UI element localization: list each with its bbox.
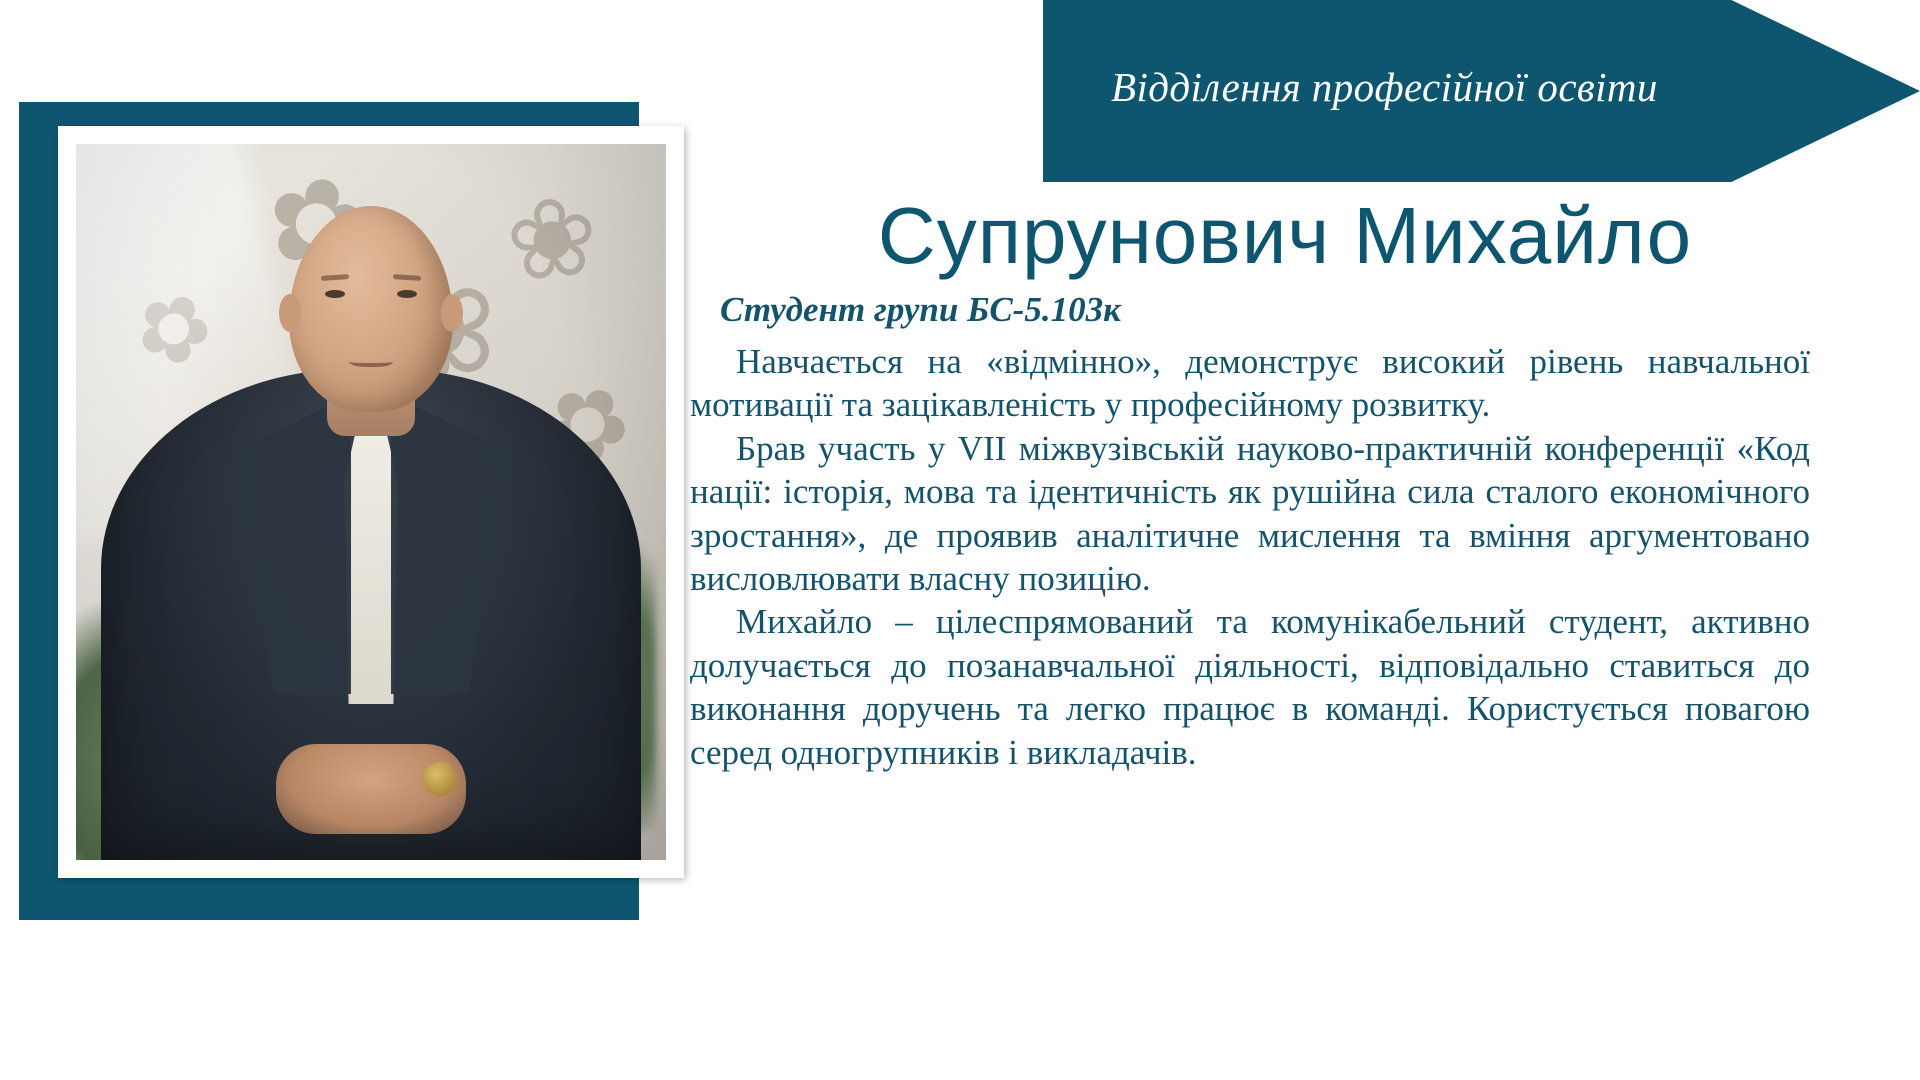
biography-paragraph: Брав участь у VII міжвузівській науково-… [690,427,1810,601]
student-group-subtitle: Студент групи БС-5.103к [720,290,1880,330]
photo-card: ✿ ❀ ✿ ❀ ✿ [58,126,684,878]
student-photo: ✿ ❀ ✿ ❀ ✿ [76,144,666,860]
page-title: Супрунович Михайло [690,196,1880,276]
department-banner-label: Відділення професійної освіти [1043,63,1658,119]
biography-paragraph: Михайло – цілеспрямований та комунікабел… [690,600,1810,774]
slide-root: Відділення професійної освіти ✿ ❀ ✿ ❀ ✿ [0,0,1920,1080]
photo-vignette [76,144,666,860]
department-banner: Відділення професійної освіти [1043,0,1920,182]
photo-block: ✿ ❀ ✿ ❀ ✿ [19,102,639,920]
biography-paragraph: Навчається на «відмінно», демонструє вис… [690,340,1810,427]
biography-text: Навчається на «відмінно», демонструє вис… [690,340,1810,774]
content-column: Супрунович Михайло Студент групи БС-5.10… [690,196,1880,774]
